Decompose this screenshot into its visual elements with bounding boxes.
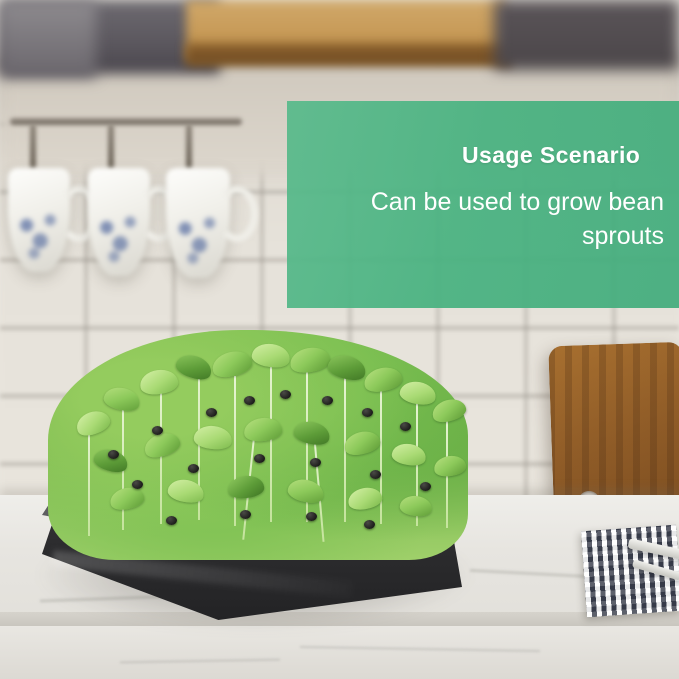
sprout-stem (88, 426, 90, 536)
counter-lower-front (0, 626, 679, 679)
right-cabinet (494, 0, 679, 70)
sprout-seed (188, 464, 199, 473)
sprout-stem (270, 364, 272, 522)
sprout-seed (362, 408, 373, 417)
sprout-seed (152, 426, 163, 435)
bean-sprouts (48, 330, 468, 560)
sprout-seed (370, 470, 381, 479)
dark-cabinet-side (0, 0, 96, 78)
hook-icon (108, 124, 114, 170)
sprout-seed (244, 396, 255, 405)
sprout-seed (108, 450, 119, 459)
usage-scenario-banner: Usage Scenario Can be used to grow bean … (287, 101, 679, 308)
sprout-seed (322, 396, 333, 405)
sprout-seed (280, 390, 291, 399)
sprout-stem (234, 376, 236, 526)
sprout-seed (254, 454, 265, 463)
sprout-seed (206, 408, 217, 417)
sprout-seed (166, 516, 177, 525)
wooden-shelf-edge (186, 44, 512, 66)
sprout-seed (364, 520, 375, 529)
sprout-stem (380, 388, 382, 524)
sprout-seed (400, 422, 411, 431)
product-lifestyle-image: Usage Scenario Can be used to grow bean … (0, 0, 679, 679)
hook-icon (30, 124, 36, 170)
banner-subtitle: Can be used to grow bean sprouts (332, 185, 664, 253)
sprout-seed (132, 480, 143, 489)
sprout-seed (306, 512, 317, 521)
sprout-seed (240, 510, 251, 519)
banner-title: Usage Scenario (462, 142, 640, 169)
hook-icon (186, 124, 192, 170)
sprout-seed (310, 458, 321, 467)
sprout-seed (420, 482, 431, 491)
cup-handle (216, 186, 258, 242)
hanging-rail (10, 118, 242, 125)
